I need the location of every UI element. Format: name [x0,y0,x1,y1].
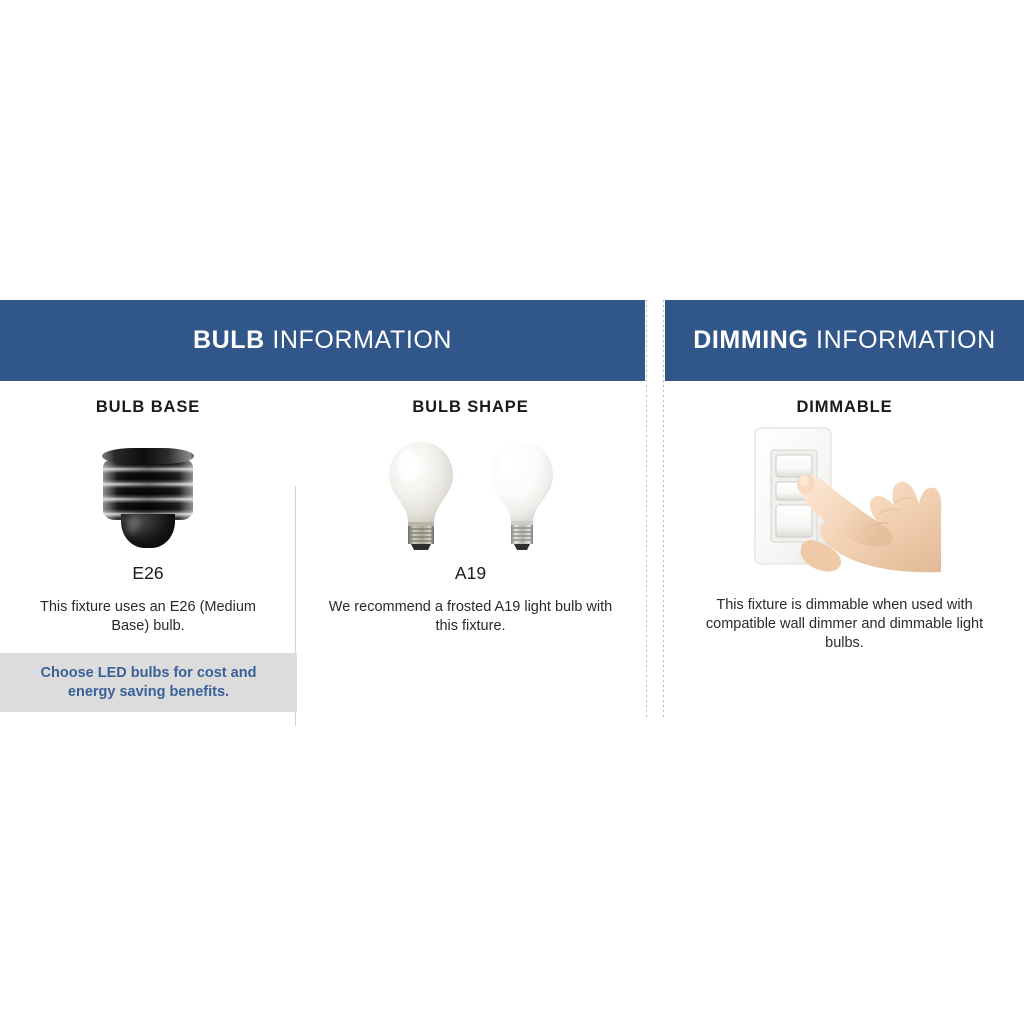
bulb-base-title: BULB BASE [0,399,296,416]
e26-threads [103,458,193,520]
led-callout-text: Choose LED bulbs for cost and energy sav… [24,664,274,702]
e26-highlight [127,516,139,534]
bulb-shape-spec: A19 [296,565,645,583]
dimming-information-panel: DIMMING INFORMATION DIMMABLE [665,300,1024,653]
panel-separator-right [663,300,664,720]
dimming-information-header: DIMMING INFORMATION [665,300,1024,381]
led-a19-bulb-icon [485,440,559,552]
bulb-header-rest: INFORMATION [265,326,452,354]
bulb-header-strong: BULB [193,326,265,354]
bulb-shape-description: We recommend a frosted A19 light bulb wi… [326,598,616,636]
bulb-base-description: This fixture uses an E26 (Medium Base) b… [33,598,263,636]
dimmable-title: DIMMABLE [665,399,1024,416]
dimming-information-header-text: DIMMING INFORMATION [693,328,996,353]
dimming-header-rest: INFORMATION [809,326,996,354]
dimmable-art [665,424,1024,574]
a19-bulbs-icon [383,440,559,552]
dimmable-description: This fixture is dimmable when used with … [695,596,995,653]
bulb-information-header: BULB INFORMATION [0,300,645,381]
e26-screw-base-icon [97,448,199,552]
bulb-shape-art [296,434,645,552]
bulb-shape-column: BULB SHAPE [296,381,645,636]
bulb-base-spec: E26 [0,565,296,583]
incandescent-a19-bulb-icon [383,440,459,552]
wall-dimmer-switch-hand-icon [745,424,945,574]
bulb-information-header-text: BULB INFORMATION [193,328,452,353]
led-callout-box: Choose LED bulbs for cost and energy sav… [0,653,297,712]
bulb-columns: BULB BASE E26 This fixture uses an E26 (… [0,381,645,636]
panel-separator-left [646,300,647,720]
bulb-base-art [0,434,296,552]
bulb-base-column: BULB BASE E26 This fixture uses an E26 (… [0,381,296,636]
bulb-information-panel: BULB INFORMATION BULB BASE E26 This fixt… [0,300,645,636]
bulb-shape-title: BULB SHAPE [296,399,645,416]
dimmer-switch-svg [745,424,945,574]
dimming-header-strong: DIMMING [693,326,808,354]
dimmable-column: DIMMABLE [665,381,1024,653]
e26-collar [102,448,194,464]
